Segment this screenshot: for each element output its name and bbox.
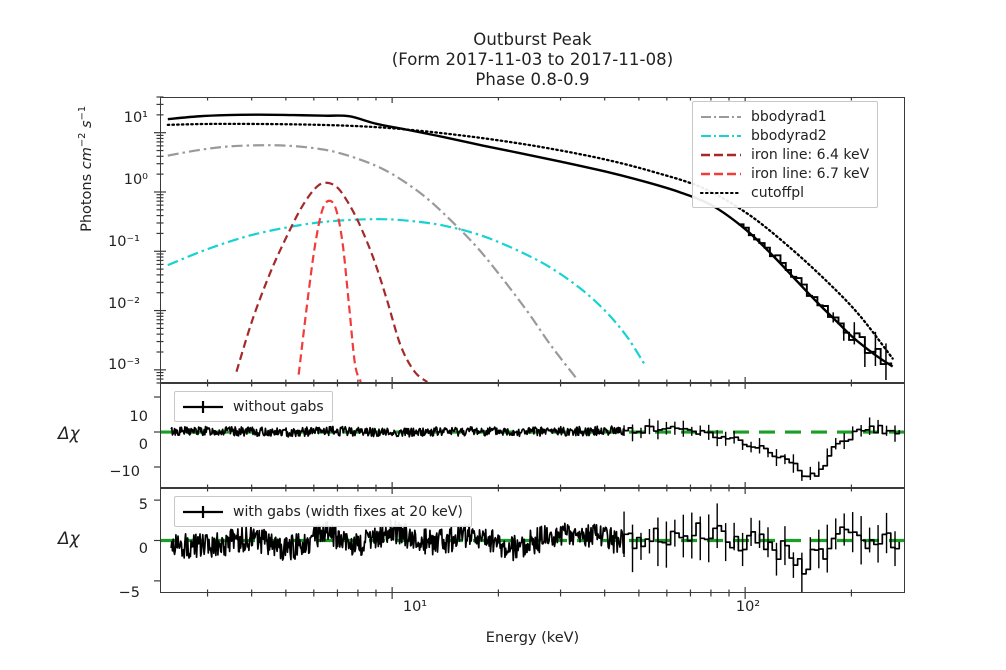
legend-item-cutoffpl[interactable]: cutoffpl	[700, 183, 869, 202]
legend-label-iron-67: iron line: 6.7 keV	[751, 167, 869, 181]
y-axis-label-residual-1: Δχ	[58, 424, 80, 444]
ytick-top-3: 10⁻²	[70, 296, 140, 312]
ytick-mid-0: 10	[78, 409, 148, 425]
xtick-1: 10²	[718, 599, 778, 615]
legend-label-with-gabs: with gabs (width fixes at 20 keV)	[233, 505, 463, 519]
ytick-bot-1: 0	[78, 541, 148, 557]
series-bbodyrad2	[168, 219, 646, 366]
residual-trace	[171, 520, 899, 573]
legend-item-iron-64[interactable]: iron line: 6.4 keV	[700, 145, 869, 164]
ytick-bot-0: 5	[78, 497, 148, 513]
ytick-mid-1: 0	[78, 437, 148, 453]
legend-key-without-gabs	[182, 400, 224, 414]
ytick-top-0: 10¹	[78, 110, 148, 126]
legend-key-cutoffpl	[700, 186, 742, 200]
legend-key-bbodyrad2	[700, 129, 742, 143]
legend-item-bbodyrad1[interactable]: bbodyrad1	[700, 107, 869, 126]
series-iron-line-6-4-kev	[237, 183, 428, 382]
figure-title: Outburst Peak (Form 2017-11-03 to 2017-1…	[160, 30, 905, 90]
legend-item-with-gabs[interactable]: with gabs (width fixes at 20 keV)	[182, 502, 463, 521]
legend-item-iron-67[interactable]: iron line: 6.7 keV	[700, 164, 869, 183]
ytick-mid-2: −10	[70, 464, 140, 480]
title-line-1: Outburst Peak	[160, 30, 905, 50]
ytick-top-1: 10⁰	[78, 172, 148, 188]
xtick-0: 10¹	[385, 599, 445, 615]
legend-key-with-gabs	[182, 505, 224, 519]
y-axis-label-residual-2: Δχ	[58, 529, 80, 549]
series-bbodyrad1	[168, 145, 576, 378]
legend-key-iron-67	[700, 167, 742, 181]
legend-label-bbodyrad1: bbodyrad1	[751, 110, 827, 124]
figure-canvas: Outburst Peak (Form 2017-11-03 to 2017-1…	[0, 0, 1006, 670]
legend-label-cutoffpl: cutoffpl	[751, 186, 804, 200]
spectral-figure: Outburst Peak (Form 2017-11-03 to 2017-1…	[0, 0, 1006, 670]
x-axis-label: Energy (keV)	[160, 630, 905, 646]
legend-key-iron-64	[700, 148, 742, 162]
legend-label-without-gabs: without gabs	[233, 400, 324, 414]
legend-spectrum[interactable]: bbodyrad1 bbodyrad2 iron line: 6.4 keV i…	[692, 101, 878, 208]
title-line-2: (Form 2017-11-03 to 2017-11-08)	[160, 50, 905, 70]
y-axis-label-spectrum: Photons cm−2 s−1	[77, 79, 95, 259]
legend-key-bbodyrad1	[700, 110, 742, 124]
legend-residual-without-gabs[interactable]: without gabs	[174, 391, 333, 422]
legend-label-iron-64: iron line: 6.4 keV	[751, 148, 869, 162]
ytick-top-2: 10⁻¹	[70, 234, 140, 250]
series-iron-line-6-7-kev	[299, 201, 361, 382]
legend-residual-with-gabs[interactable]: with gabs (width fixes at 20 keV)	[174, 496, 472, 527]
legend-item-bbodyrad2[interactable]: bbodyrad2	[700, 126, 869, 145]
ytick-bot-2: −5	[70, 585, 140, 601]
legend-label-bbodyrad2: bbodyrad2	[751, 129, 827, 143]
legend-item-without-gabs[interactable]: without gabs	[182, 397, 324, 416]
title-line-3: Phase 0.8-0.9	[160, 70, 905, 90]
ytick-top-4: 10⁻³	[70, 357, 140, 373]
